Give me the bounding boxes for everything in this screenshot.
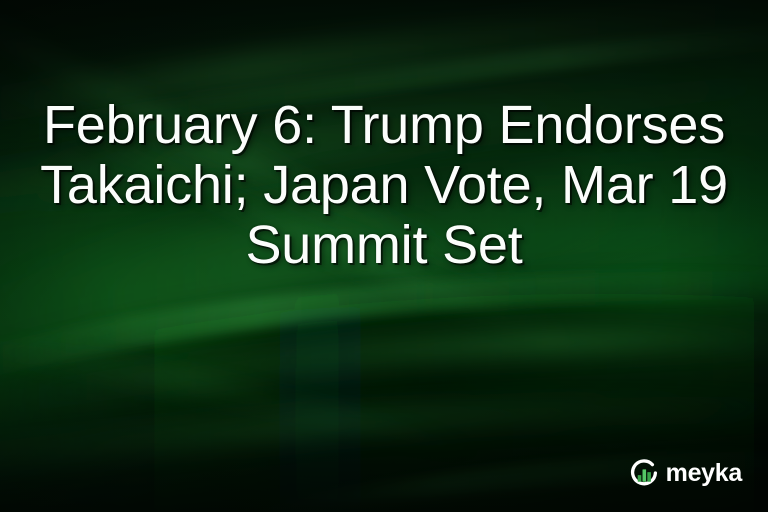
headline-text: February 6: Trump Endorses Takaichi; Jap…: [40, 96, 728, 276]
meyka-logo: meyka: [629, 458, 742, 488]
headline-container: February 6: Trump Endorses Takaichi; Jap…: [0, 96, 768, 276]
meyka-wordmark: meyka: [666, 461, 742, 486]
logo-bar-right: [647, 472, 651, 482]
meyka-bar-chart-ring-icon: [629, 458, 659, 488]
news-banner-image: February 6: Trump Endorses Takaichi; Jap…: [0, 0, 768, 512]
logo-bar-left: [637, 475, 641, 482]
logo-bar-middle: [642, 469, 646, 481]
